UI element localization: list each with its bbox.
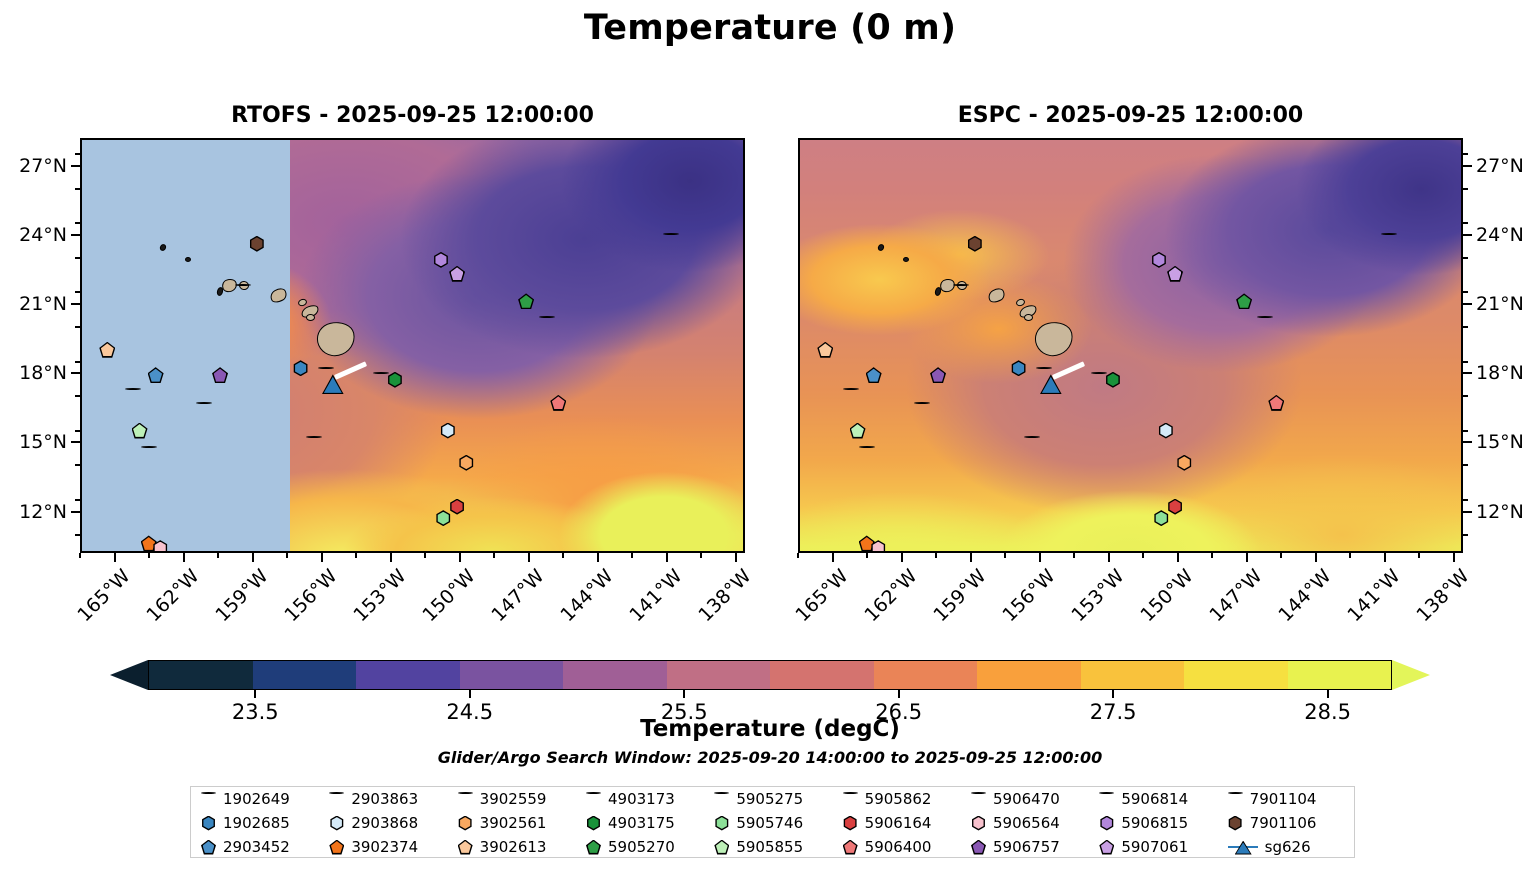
argo-marker-5906757[interactable] [212, 367, 228, 383]
argo-marker-4903175[interactable] [387, 372, 403, 388]
x-axis-minor-tick [424, 553, 426, 558]
y-axis-minor-tick [1463, 222, 1468, 224]
colorbar-band-5 [667, 661, 771, 689]
legend-label: 5906164 [865, 814, 932, 832]
x-axis-tick [459, 553, 461, 562]
legend-item-3902561[interactable]: 3902561 [452, 814, 580, 832]
legend-item-1902649[interactable]: 1902649 [195, 790, 323, 808]
y-axis-minor-tick [75, 499, 80, 501]
argo-marker-5906564[interactable] [152, 540, 168, 553]
argo-marker-2903868[interactable] [1158, 423, 1174, 439]
x-axis-minor-tick [1211, 553, 1213, 558]
argo-marker-3902613[interactable] [99, 342, 115, 358]
argo-marker-5906757[interactable] [930, 367, 946, 383]
argo-marker-5905855[interactable] [132, 423, 148, 439]
x-axis-tick [1315, 553, 1317, 562]
argo-marker-5905862[interactable] [859, 446, 875, 462]
pentagon-icon [843, 840, 858, 855]
x-axis-minor-tick [797, 553, 799, 558]
colorbar-band-0 [149, 661, 253, 689]
legend-label: 5906470 [993, 790, 1060, 808]
y-axis-tick [71, 372, 80, 374]
legend-label: 5905275 [736, 790, 803, 808]
legend-item-3902559[interactable]: 3902559 [452, 790, 580, 808]
circle-icon [971, 792, 986, 807]
legend-label: 5907061 [1121, 838, 1188, 856]
pentagon-icon [1099, 840, 1114, 855]
circle-icon [1099, 792, 1114, 807]
legend-item-5905862[interactable]: 5905862 [837, 790, 965, 808]
pentagon-icon [201, 840, 216, 855]
legend-item-5906164[interactable]: 5906164 [837, 814, 965, 832]
legend-label: 4903173 [608, 790, 675, 808]
x-axis-minor-tick [355, 553, 357, 558]
argo-marker-5906815[interactable] [433, 252, 449, 268]
argo-marker-5907061[interactable] [449, 266, 465, 282]
legend-item-5905275[interactable]: 5905275 [708, 790, 836, 808]
pentagon-icon [971, 840, 986, 855]
legend-label: 1902649 [223, 790, 290, 808]
argo-marker-5906164[interactable] [1167, 499, 1183, 515]
y-axis-tick [1463, 165, 1472, 167]
x-axis-tick [528, 553, 530, 562]
legend-label: 7901106 [1250, 814, 1317, 832]
glider-icon [1228, 840, 1258, 855]
argo-marker-5906164[interactable] [449, 499, 465, 515]
y-axis-minor-tick [1463, 326, 1468, 328]
x-axis-tick [832, 553, 834, 562]
x-axis-minor-tick [562, 553, 564, 558]
legend-label: 4903175 [608, 814, 675, 832]
x-axis-tick [1108, 553, 1110, 562]
legend-item-5906470[interactable]: 5906470 [965, 790, 1093, 808]
y-axis-label: 15°N [1476, 431, 1540, 453]
y-axis-minor-tick [1463, 188, 1468, 190]
x-axis-tick [666, 553, 668, 562]
x-axis-tick [252, 553, 254, 562]
y-axis-label: 12°N [0, 501, 67, 523]
y-axis-tick [1463, 441, 1472, 443]
argo-marker-5906814[interactable] [1257, 316, 1273, 332]
x-axis-tick [114, 553, 116, 562]
colorbar-band-6 [770, 661, 874, 689]
argo-marker-4903173[interactable] [1381, 233, 1397, 249]
x-axis-minor-tick [79, 553, 81, 558]
x-axis-minor-tick [700, 553, 702, 558]
hexagon-icon [586, 816, 601, 831]
hexagon-icon [458, 816, 473, 831]
pentagon-icon [586, 840, 601, 855]
y-axis-label: 24°N [0, 224, 67, 246]
legend-label: 5905862 [865, 790, 932, 808]
argo-marker-7901104[interactable] [1024, 436, 1040, 452]
y-axis-tick [1463, 511, 1472, 513]
argo-marker-2903452[interactable] [866, 367, 882, 383]
argo-marker-3902559[interactable] [235, 284, 251, 300]
legend-item-3902613[interactable]: 3902613 [452, 838, 580, 856]
x-axis-tick [735, 553, 737, 562]
legend-label: 2903868 [351, 814, 418, 832]
circle-icon [201, 792, 216, 807]
y-axis-minor-tick [1463, 291, 1468, 293]
y-axis-minor-tick [75, 326, 80, 328]
x-axis-minor-tick [866, 553, 868, 558]
y-axis-minor-tick [1463, 361, 1468, 363]
hexagon-icon [714, 816, 729, 831]
legend-item-5906815[interactable]: 5906815 [1093, 814, 1221, 832]
y-axis-minor-tick [75, 361, 80, 363]
legend-label: 2903452 [223, 838, 290, 856]
legend-item-5907061[interactable]: 5907061 [1093, 838, 1221, 856]
island-shape [1024, 314, 1033, 321]
legend-label: 3902559 [480, 790, 547, 808]
hexagon-icon [1099, 816, 1114, 831]
y-axis-minor-tick [75, 291, 80, 293]
argo-marker-7901106[interactable] [249, 236, 265, 252]
argo-marker-5906400[interactable] [550, 395, 566, 411]
legend-item-5905270[interactable]: 5905270 [580, 838, 708, 856]
colorbar-tick [1327, 690, 1329, 698]
x-axis-minor-tick [1280, 553, 1282, 558]
y-axis-tick [1463, 234, 1472, 236]
argo-marker-4903173[interactable] [663, 233, 679, 249]
legend-label: 1902685 [223, 814, 290, 832]
y-axis-minor-tick [75, 395, 80, 397]
legend-label: 2903863 [351, 790, 418, 808]
argo-marker-3902559[interactable] [953, 284, 969, 300]
argo-marker-5905862[interactable] [141, 446, 157, 462]
colorbar-under-arrow [110, 660, 148, 690]
argo-marker-7901106[interactable] [967, 236, 983, 252]
x-axis-minor-tick [631, 553, 633, 558]
circle-icon [586, 792, 601, 807]
circle-icon [458, 792, 473, 807]
x-axis-tick [1039, 553, 1041, 562]
y-axis-label: 12°N [1476, 501, 1540, 523]
legend-item-5906564[interactable]: 5906564 [965, 814, 1093, 832]
legend-item-sg626[interactable]: sg626 [1222, 838, 1350, 856]
legend-label: 3902561 [480, 814, 547, 832]
legend-item-5906757[interactable]: 5906757 [965, 838, 1093, 856]
legend-item-1902685[interactable]: 1902685 [195, 814, 323, 832]
legend-item-2903863[interactable]: 2903863 [323, 790, 451, 808]
x-axis-minor-tick [1418, 553, 1420, 558]
x-axis-tick [970, 553, 972, 562]
map-panel-rtofs[interactable] [80, 138, 745, 553]
island-shape [185, 257, 191, 262]
colorbar-band-7 [874, 661, 978, 689]
hexagon-icon [329, 816, 344, 831]
x-axis-tick [1177, 553, 1179, 562]
argo-marker-4903175[interactable] [1105, 372, 1121, 388]
legend-item-4903173[interactable]: 4903173 [580, 790, 708, 808]
colorbar-tick [683, 690, 685, 698]
legend-item-5906400[interactable]: 5906400 [837, 838, 965, 856]
circle-icon [1228, 792, 1243, 807]
x-axis-minor-tick [286, 553, 288, 558]
argo-marker-2903868[interactable] [440, 423, 456, 439]
y-axis-minor-tick [75, 534, 80, 536]
y-axis-label: 15°N [0, 431, 67, 453]
argo-marker-1902685[interactable] [1011, 360, 1027, 376]
y-axis-label: 21°N [1476, 293, 1540, 315]
x-axis-tick [1246, 553, 1248, 562]
x-axis-minor-tick [1349, 553, 1351, 558]
colorbar-band-2 [356, 661, 460, 689]
hexagon-icon [971, 816, 986, 831]
circle-icon [843, 792, 858, 807]
colorbar-label: Temperature (degC) [0, 716, 1540, 742]
y-axis-minor-tick [75, 430, 80, 432]
argo-marker-5905746[interactable] [1153, 510, 1169, 526]
x-axis-tick [1453, 553, 1455, 562]
colorbar-over-arrow [1392, 660, 1430, 690]
hexagon-icon [1228, 816, 1243, 831]
legend-label: 5906757 [993, 838, 1060, 856]
colorbar-band-9 [1081, 661, 1185, 689]
temperature-field-espc [800, 140, 1461, 551]
island-shape [903, 257, 909, 262]
y-axis-label: 27°N [1476, 155, 1540, 177]
legend-item-7901104[interactable]: 7901104 [1222, 790, 1350, 808]
legend-label: 7901104 [1250, 790, 1317, 808]
x-axis-tick [1384, 553, 1386, 562]
argo-marker-3902561[interactable] [1176, 455, 1192, 471]
x-axis-minor-tick [935, 553, 937, 558]
y-axis-minor-tick [1463, 395, 1468, 397]
hexagon-icon [843, 816, 858, 831]
pentagon-icon [714, 840, 729, 855]
argo-marker-5905275[interactable] [196, 402, 212, 418]
y-axis-minor-tick [1463, 430, 1468, 432]
legend-label: 5906814 [1121, 790, 1188, 808]
legend-label: 5905855 [736, 838, 803, 856]
legend-label: 5906564 [993, 814, 1060, 832]
y-axis-tick [1463, 303, 1472, 305]
panel-title-espc: ESPC - 2025-09-25 12:00:00 [798, 103, 1463, 128]
y-axis-tick [71, 234, 80, 236]
y-axis-minor-tick [1463, 257, 1468, 259]
colorbar-tick [254, 690, 256, 698]
colorbar-tick [469, 690, 471, 698]
x-axis-tick [183, 553, 185, 562]
colorbar-band-10 [1184, 661, 1288, 689]
y-axis-label: 27°N [0, 155, 67, 177]
legend-item-5906814[interactable]: 5906814 [1093, 790, 1221, 808]
pentagon-icon [329, 840, 344, 855]
argo-marker-5907061[interactable] [1167, 266, 1183, 282]
colorbar-band-3 [460, 661, 564, 689]
y-axis-tick [1463, 372, 1472, 374]
y-axis-tick [71, 165, 80, 167]
legend-label: 5905746 [736, 814, 803, 832]
argo-marker-3902561[interactable] [458, 455, 474, 471]
hexagon-icon [201, 816, 216, 831]
argo-marker-5905746[interactable] [435, 510, 451, 526]
x-axis-minor-tick [148, 553, 150, 558]
x-axis-tick [901, 553, 903, 562]
legend-label: 5906400 [865, 838, 932, 856]
y-axis-label: 18°N [0, 362, 67, 384]
search-window-annotation: Glider/Argo Search Window: 2025-09-20 14… [0, 748, 1540, 767]
argo-marker-2903452[interactable] [148, 367, 164, 383]
argo-marker-5906400[interactable] [1268, 395, 1284, 411]
colorbar[interactable]: 23.524.525.526.527.528.5 [110, 660, 1430, 690]
argo-marker-5905270[interactable] [1236, 293, 1252, 309]
legend-item-5905746[interactable]: 5905746 [708, 814, 836, 832]
x-axis-minor-tick [1004, 553, 1006, 558]
argo-marker-5905855[interactable] [850, 423, 866, 439]
argo-marker-3902613[interactable] [817, 342, 833, 358]
legend-label: sg626 [1265, 838, 1311, 856]
legend-item-2903452[interactable]: 2903452 [195, 838, 323, 856]
pentagon-icon [458, 840, 473, 855]
y-axis-minor-tick [1463, 464, 1468, 466]
circle-icon [329, 792, 344, 807]
y-axis-label: 21°N [0, 293, 67, 315]
argo-marker-5906815[interactable] [1151, 252, 1167, 268]
argo-marker-5906564[interactable] [870, 540, 886, 553]
x-axis-tick [597, 553, 599, 562]
colorbar-tick [898, 690, 900, 698]
x-axis-minor-tick [217, 553, 219, 558]
x-axis-minor-tick [1073, 553, 1075, 558]
legend-label: 5906815 [1121, 814, 1188, 832]
colorbar-tick [1112, 690, 1114, 698]
y-axis-tick [71, 303, 80, 305]
legend-label: 3902374 [351, 838, 418, 856]
y-axis-label: 24°N [1476, 224, 1540, 246]
argo-marker-5905275[interactable] [914, 402, 930, 418]
y-axis-minor-tick [75, 153, 80, 155]
island-shape [306, 314, 315, 321]
y-axis-label: 18°N [1476, 362, 1540, 384]
page-title: Temperature (0 m) [0, 8, 1540, 48]
legend-item-5905855[interactable]: 5905855 [708, 838, 836, 856]
colorbar-gradient [148, 660, 1392, 690]
colorbar-band-11 [1288, 661, 1392, 689]
argo-marker-5905270[interactable] [518, 293, 534, 309]
legend-label: 3902613 [480, 838, 547, 856]
x-axis-minor-tick [493, 553, 495, 558]
y-axis-minor-tick [75, 188, 80, 190]
argo-marker-1902685[interactable] [293, 360, 309, 376]
y-axis-minor-tick [75, 222, 80, 224]
y-axis-minor-tick [1463, 534, 1468, 536]
y-axis-tick [71, 511, 80, 513]
legend-item-7901106[interactable]: 7901106 [1222, 814, 1350, 832]
y-axis-minor-tick [75, 257, 80, 259]
argo-marker-5906814[interactable] [539, 316, 555, 332]
map-panel-espc[interactable] [798, 138, 1463, 553]
legend-item-3902374[interactable]: 3902374 [323, 838, 451, 856]
legend-item-2903868[interactable]: 2903868 [323, 814, 451, 832]
x-axis-tick [390, 553, 392, 562]
colorbar-band-4 [563, 661, 667, 689]
legend[interactable]: 1902649290386339025594903173590527559058… [190, 786, 1355, 858]
circle-icon [714, 792, 729, 807]
panel-title-rtofs: RTOFS - 2025-09-25 12:00:00 [80, 103, 745, 128]
y-axis-tick [71, 441, 80, 443]
argo-marker-7901104[interactable] [306, 436, 322, 452]
y-axis-minor-tick [75, 464, 80, 466]
argo-marker-2903863[interactable] [125, 388, 141, 404]
x-axis-tick [321, 553, 323, 562]
y-axis-minor-tick [1463, 499, 1468, 501]
argo-marker-2903863[interactable] [843, 388, 859, 404]
y-axis-minor-tick [1463, 153, 1468, 155]
legend-label: 5905270 [608, 838, 675, 856]
colorbar-band-8 [977, 661, 1081, 689]
x-axis-minor-tick [1142, 553, 1144, 558]
colorbar-band-1 [253, 661, 357, 689]
legend-item-4903175[interactable]: 4903175 [580, 814, 708, 832]
